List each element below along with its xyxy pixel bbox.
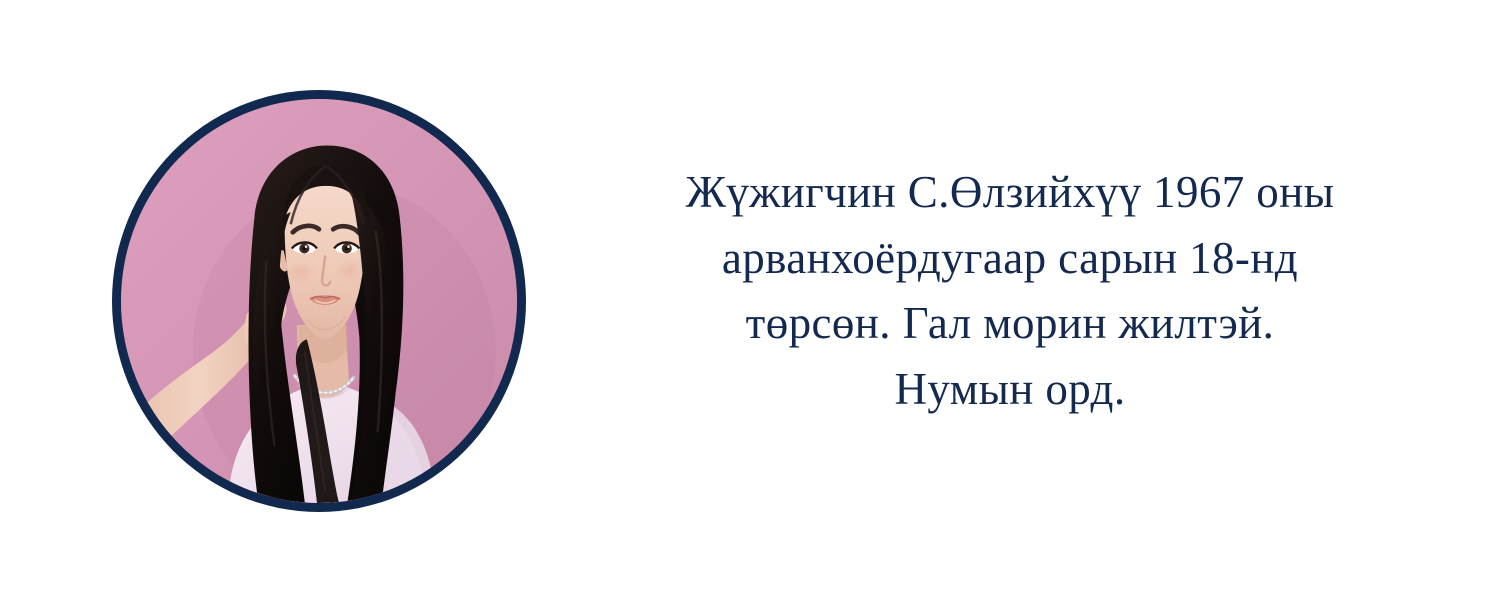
portrait-illustration — [121, 99, 517, 503]
avatar — [121, 99, 517, 503]
bio-line-4: Нумын орд. — [640, 357, 1380, 423]
profile-card: Жүжигчин С.Өлзийхүү 1967 оны арванхоёрду… — [0, 0, 1500, 614]
bio-text: Жүжигчин С.Өлзийхүү 1967 оны арванхоёрду… — [640, 160, 1380, 423]
portrait-ring-border — [112, 90, 526, 512]
bio-line-3: төрсөн. Гал морин жилтэй. — [640, 291, 1380, 357]
bio-line-1: Жүжигчин С.Өлзийхүү 1967 оны — [640, 160, 1380, 226]
portrait-container — [112, 90, 526, 512]
bio-line-2: арванхоёрдугаар сарын 18-нд — [640, 226, 1380, 292]
